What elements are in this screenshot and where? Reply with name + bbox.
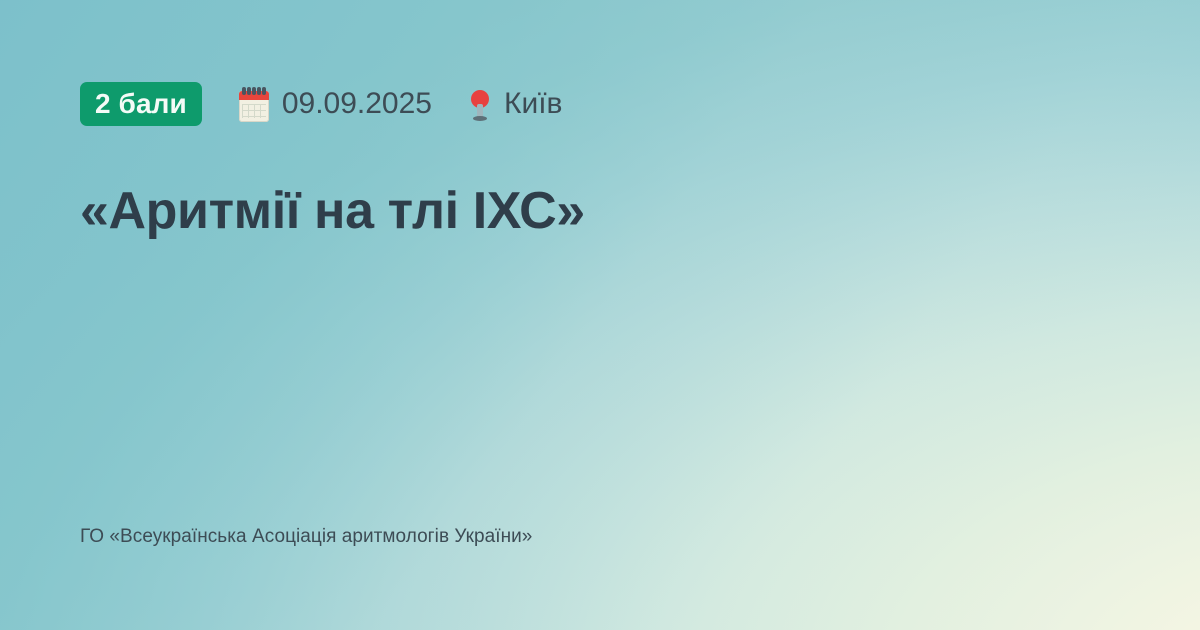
points-badge: 2 бали — [80, 82, 202, 126]
organizer-name: ГО «Всеукраїнська Асоціація аритмологів … — [80, 526, 532, 548]
calendar-icon — [239, 91, 269, 122]
meta-row: 2 бали 09.09.2025 Київ — [80, 82, 1120, 126]
event-date-value: 09.09.2025 — [282, 87, 432, 121]
event-location-value: Київ — [504, 87, 563, 121]
event-title: «Аритмії на тлі ІХС» — [80, 126, 1080, 240]
event-card: 2 бали 09.09.2025 Київ «Аритмії на тлі І… — [0, 0, 1200, 630]
event-date: 09.09.2025 — [239, 87, 432, 121]
event-location: Київ — [469, 87, 563, 121]
map-pin-icon — [469, 90, 491, 123]
